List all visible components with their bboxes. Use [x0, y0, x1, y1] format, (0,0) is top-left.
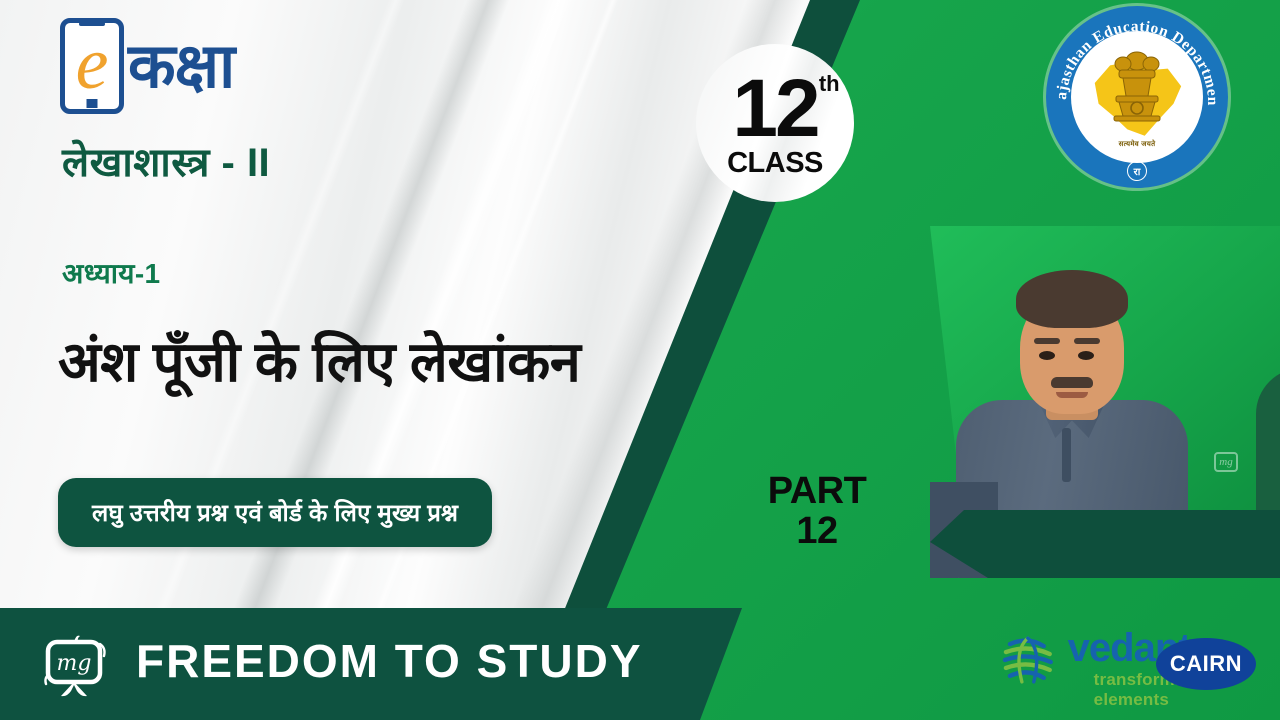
- instructor-front-hair: [1016, 270, 1128, 328]
- ashoka-lion-capital-icon: [1110, 45, 1164, 131]
- vedanta-globe-icon: [998, 628, 1058, 688]
- emblem-inner-disc: सत्यमेव जयते: [1071, 31, 1203, 163]
- class-number: 12th: [732, 72, 817, 146]
- mg-blackboard-icon: mg: [40, 630, 112, 700]
- part-word: PART: [742, 472, 892, 512]
- cairn-name: CAIRN: [1170, 651, 1242, 677]
- tablet-icon: e: [60, 18, 124, 114]
- page-title: अंश पूँजी के लिए लेखांकन: [58, 330, 818, 394]
- topic-badge: लघु उत्तरीय प्रश्न एवं बोर्ड के लिए मुख्…: [58, 478, 492, 547]
- sponsor-bar: vedanta transforming elements CAIRN: [740, 608, 1280, 720]
- instructor-front-brow-right: [1074, 338, 1100, 344]
- instructor-front-moustache: [1051, 377, 1093, 388]
- instructor-front-placket: [1062, 428, 1071, 482]
- class-badge: 12th CLASS: [696, 44, 854, 202]
- instructors-photo-panel: mg mg: [930, 226, 1280, 578]
- mg-logo-text: mg: [57, 651, 92, 676]
- rajasthan-education-department-emblem-icon: Rajasthan Education Department सत्यमेव ज…: [1046, 6, 1228, 188]
- cairn-logo: CAIRN: [1156, 638, 1256, 690]
- class-number-value: 12: [732, 63, 817, 154]
- class-ordinal-suffix: th: [819, 74, 840, 94]
- brand-logo: e कक्षा: [60, 18, 234, 114]
- emblem-motto: सत्यमेव जयते: [1119, 140, 1156, 149]
- instructor-front-eye-left: [1039, 351, 1055, 360]
- instructor-front-brow-left: [1034, 338, 1060, 344]
- video-thumbnail: e कक्षा लेखाशास्त्र - II अध्याय-1 अंश पू…: [0, 0, 1280, 720]
- brand-logo-word: कक्षा: [128, 36, 234, 98]
- instructor-front-eye-right: [1078, 351, 1094, 360]
- footer-tagline: FREEDOM TO STUDY: [136, 634, 643, 688]
- brand-logo-letter: e: [76, 27, 109, 101]
- instructor-back-shirt-logo: mg: [1214, 452, 1238, 472]
- part-indicator: PART 12: [742, 472, 892, 552]
- chapter-label: अध्याय-1: [62, 254, 160, 292]
- instructor-front-mouth: [1056, 392, 1088, 398]
- emblem-bottom-mark: रा: [1127, 161, 1147, 181]
- part-number: 12: [742, 512, 892, 552]
- subject-title: लेखाशास्त्र - II: [62, 133, 270, 188]
